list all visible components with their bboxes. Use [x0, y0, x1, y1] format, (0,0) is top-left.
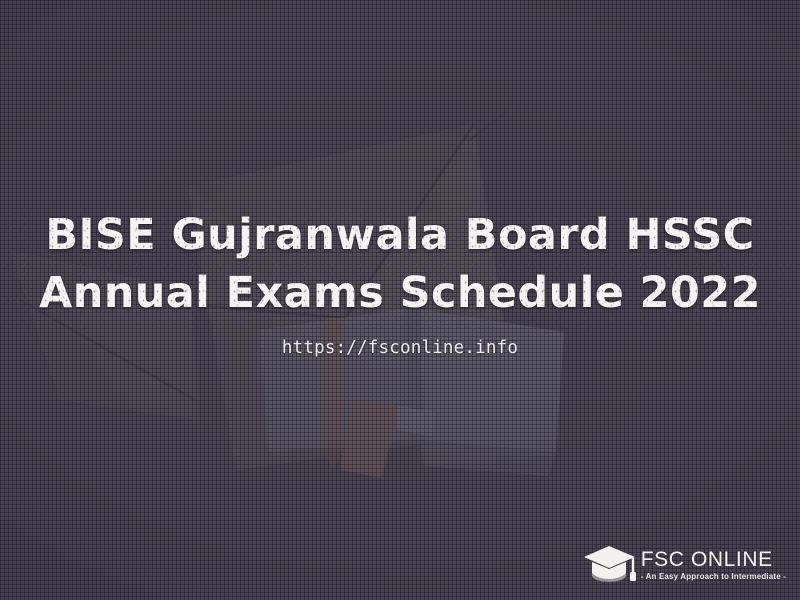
logo-title: FSC ONLINE: [641, 549, 773, 571]
title-line-2: Annual Exams Schedule 2022: [0, 264, 800, 322]
book-page-right: [412, 308, 564, 452]
banner-image: BISE Gujranwala Board HSSC Annual Exams …: [0, 0, 800, 600]
website-url: https://fsconline.info: [0, 338, 800, 358]
envelope-flap-crease: [470, 112, 506, 140]
graduation-cap-icon: [583, 542, 637, 590]
logo-tagline: - An Easy Approach to Intermediate -: [641, 571, 786, 583]
title-line-1: BISE Gujranwala Board HSSC: [0, 206, 800, 264]
site-logo[interactable]: FSC ONLINE - An Easy Approach to Interme…: [583, 542, 786, 590]
page-title: BISE Gujranwala Board HSSC Annual Exams …: [0, 206, 800, 322]
logo-text-block: FSC ONLINE - An Easy Approach to Interme…: [641, 549, 786, 583]
